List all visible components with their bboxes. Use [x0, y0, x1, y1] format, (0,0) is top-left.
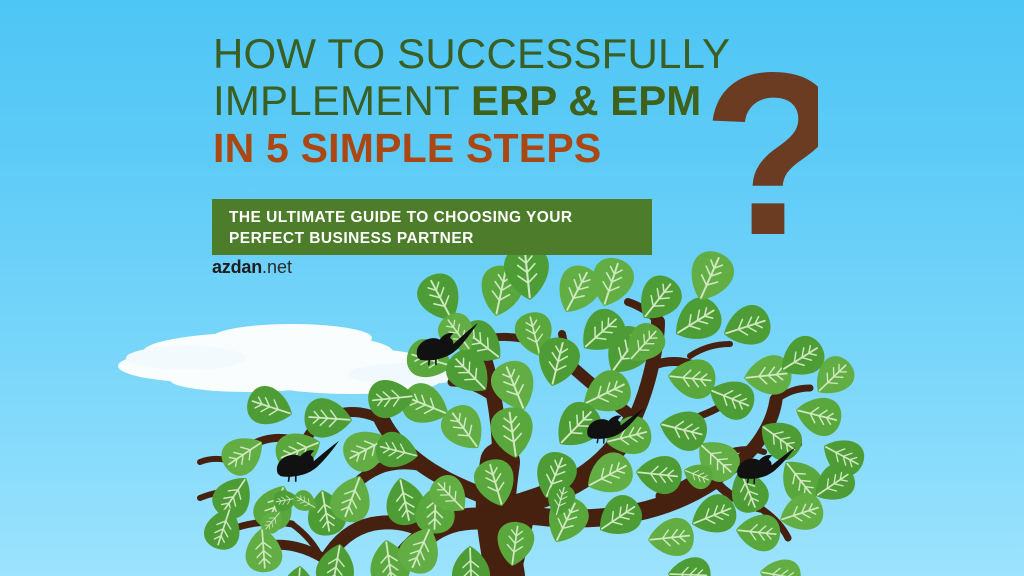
headline-line-3: IN 5 SIMPLE STEPS [213, 128, 813, 169]
headline-block: HOW TO SUCCESSFULLY IMPLEMENT ERP & EPM … [213, 33, 813, 169]
logo-name: azdan [212, 257, 262, 277]
headline-line-2: IMPLEMENT ERP & EPM [213, 80, 813, 122]
subtitle-line-2: PERFECT BUSINESS PARTNER [229, 229, 652, 250]
headline-line-3-prefix: IN 5 [213, 125, 301, 171]
subtitle-banner: THE ULTIMATE GUIDE TO CHOOSING YOUR PERF… [212, 199, 652, 255]
subtitle-line-1: THE ULTIMATE GUIDE TO CHOOSING YOUR [229, 208, 652, 229]
logo-tld: .net [262, 257, 292, 277]
headline-line-2-emphasis: ERP & EPM [471, 77, 701, 124]
headline-line-2-prefix: IMPLEMENT [213, 77, 471, 124]
azdan-logo[interactable]: azdan.net [212, 258, 292, 276]
poster-canvas: ? HOW TO SUCCESSFULLY IMPLEMENT ERP & EP… [0, 0, 1024, 576]
headline-line-1: HOW TO SUCCESSFULLY [213, 33, 813, 75]
headline-line-3-rest: SIMPLE STEPS [301, 125, 602, 171]
